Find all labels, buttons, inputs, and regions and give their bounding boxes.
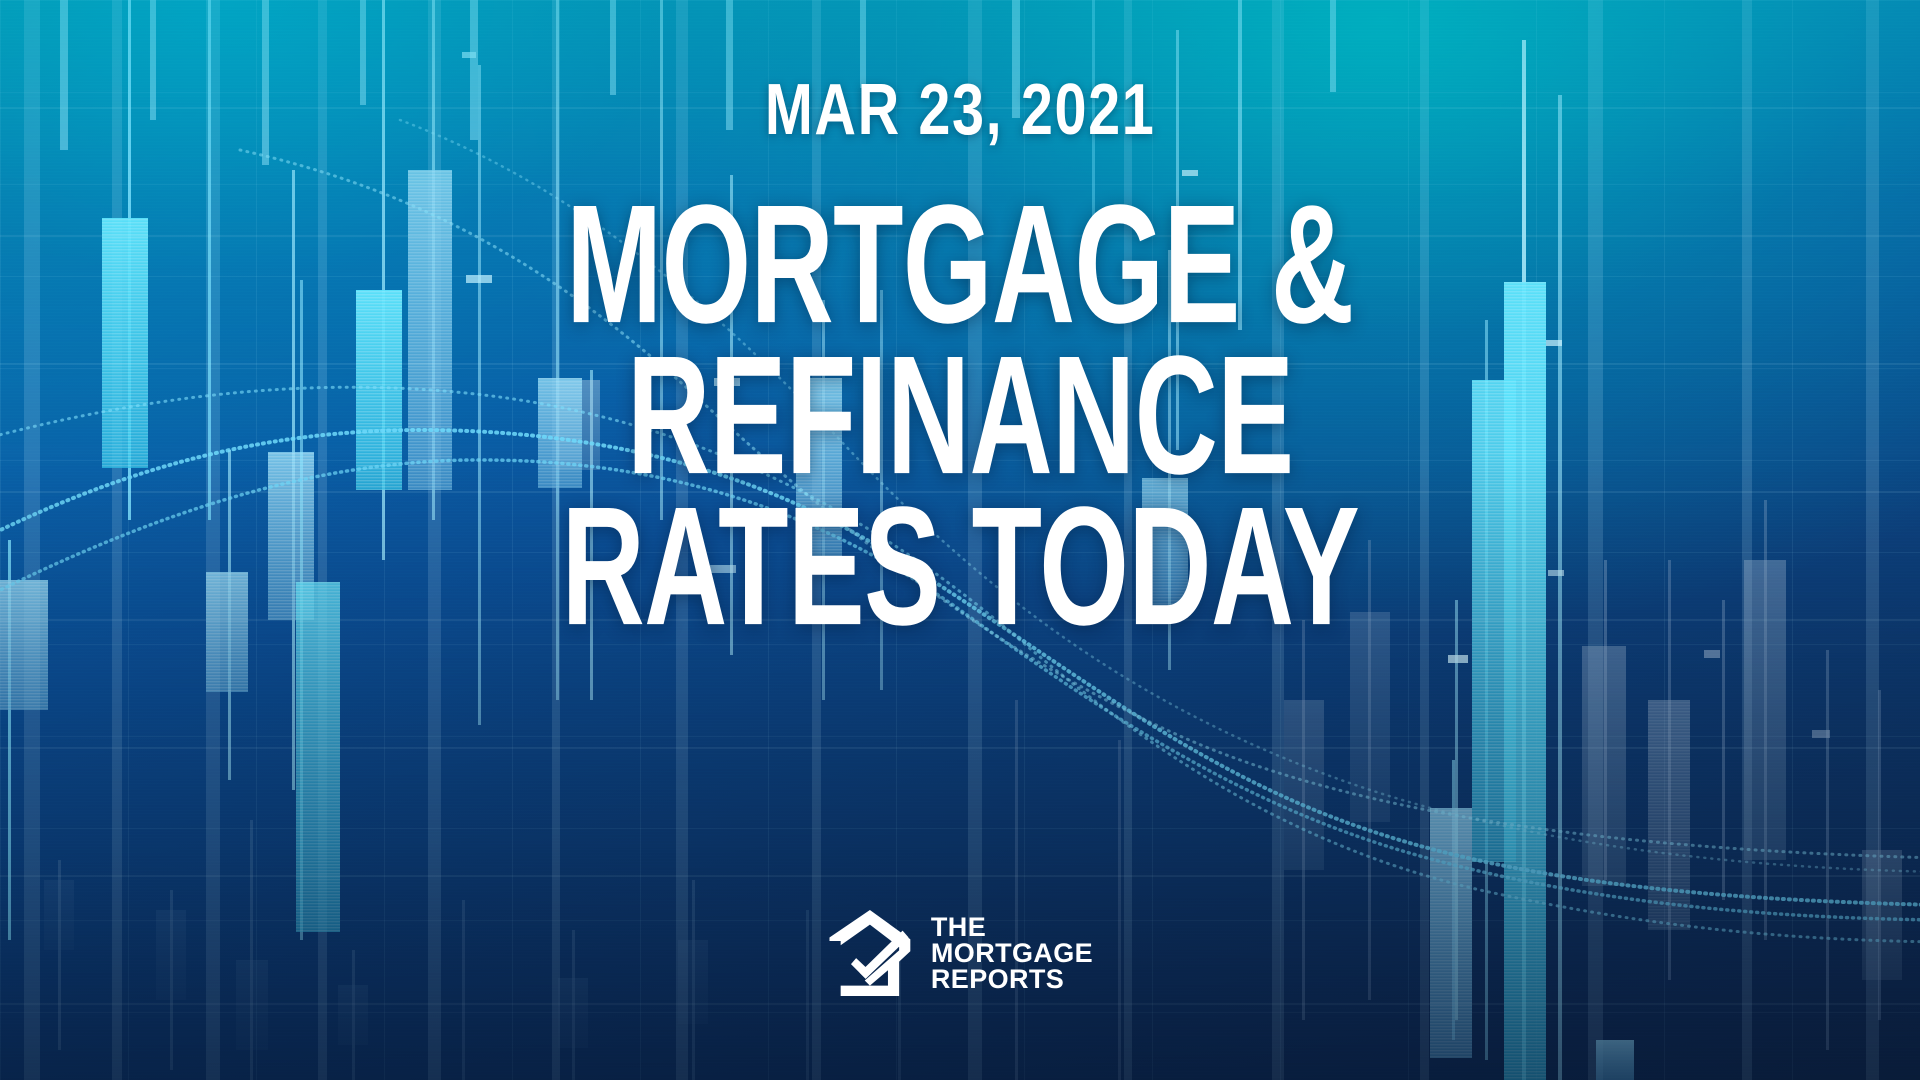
logo-wordmark: THE MORTGAGE REPORTS: [931, 914, 1093, 993]
mortgage-rates-banner: MAR 23, 2021 MORTGAGE & REFINANCE RATES …: [0, 0, 1920, 1080]
logo-line-the: THE: [931, 914, 1093, 940]
the-mortgage-reports-logo[interactable]: THE MORTGAGE REPORTS: [827, 908, 1093, 998]
headline-line-3: RATES TODAY: [561, 484, 1359, 649]
banner-content: MAR 23, 2021 MORTGAGE & REFINANCE RATES …: [0, 0, 1920, 1080]
logo-line-mortgage: MORTGAGE: [931, 940, 1093, 966]
page-title: MORTGAGE & REFINANCE RATES TODAY: [449, 192, 1471, 639]
house-check-logo-icon: [827, 908, 913, 998]
publication-date: MAR 23, 2021: [765, 74, 1156, 146]
logo-line-reports: REPORTS: [931, 966, 1093, 992]
